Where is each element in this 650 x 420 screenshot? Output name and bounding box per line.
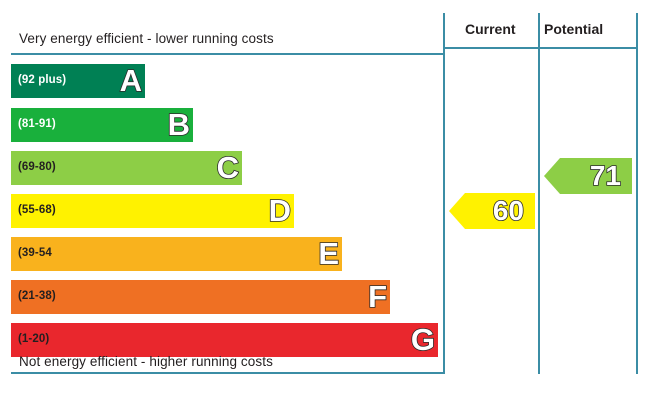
band-row-a: (92 plus) A <box>11 64 145 98</box>
band-letter-b: B <box>168 109 190 140</box>
potential-rating-arrow: 71 <box>544 158 632 194</box>
scale-bottom-rule <box>11 372 444 374</box>
band-letter-g: G <box>411 324 435 355</box>
current-rating-arrow: 60 <box>449 193 535 229</box>
table-border-middle <box>538 13 540 374</box>
band-range-g: (1-20) <box>18 334 49 346</box>
table-border-left <box>443 13 445 374</box>
table-border-right <box>636 13 638 374</box>
band-letter-e: E <box>318 238 339 269</box>
rating-scale-panel: Very energy efficient - lower running co… <box>0 0 444 380</box>
band-range-d: (55-68) <box>18 205 56 217</box>
band-row-b: (81-91) B <box>11 108 193 142</box>
band-row-e: (39-54 E <box>11 237 342 271</box>
band-range-a: (92 plus) <box>18 75 66 87</box>
column-header-potential: Potential <box>544 21 603 37</box>
band-row-c: (69-80) C <box>11 151 242 185</box>
table-header-rule <box>443 47 638 49</box>
band-range-e: (39-54 <box>18 248 52 260</box>
band-row-g: (1-20) G <box>11 323 438 357</box>
band-range-b: (81-91) <box>18 119 56 131</box>
ratings-table: Current Potential 60 71 <box>443 13 638 374</box>
band-letter-d: D <box>269 195 291 226</box>
potential-rating-value: 71 <box>590 162 621 190</box>
band-letter-a: A <box>120 65 142 96</box>
band-list: (92 plus) A (81-91) B (69-80) C (55-68) … <box>0 0 444 380</box>
band-range-f: (21-38) <box>18 291 56 303</box>
band-row-f: (21-38) F <box>11 280 390 314</box>
caption-not-efficient: Not energy efficient - higher running co… <box>19 354 273 369</box>
band-row-d: (55-68) D <box>11 194 294 228</box>
epc-energy-efficiency-chart: Very energy efficient - lower running co… <box>0 0 650 420</box>
current-rating-value: 60 <box>493 197 524 225</box>
band-letter-f: F <box>368 281 387 312</box>
band-letter-c: C <box>217 152 239 183</box>
band-range-c: (69-80) <box>18 162 56 174</box>
column-header-current: Current <box>465 21 516 37</box>
